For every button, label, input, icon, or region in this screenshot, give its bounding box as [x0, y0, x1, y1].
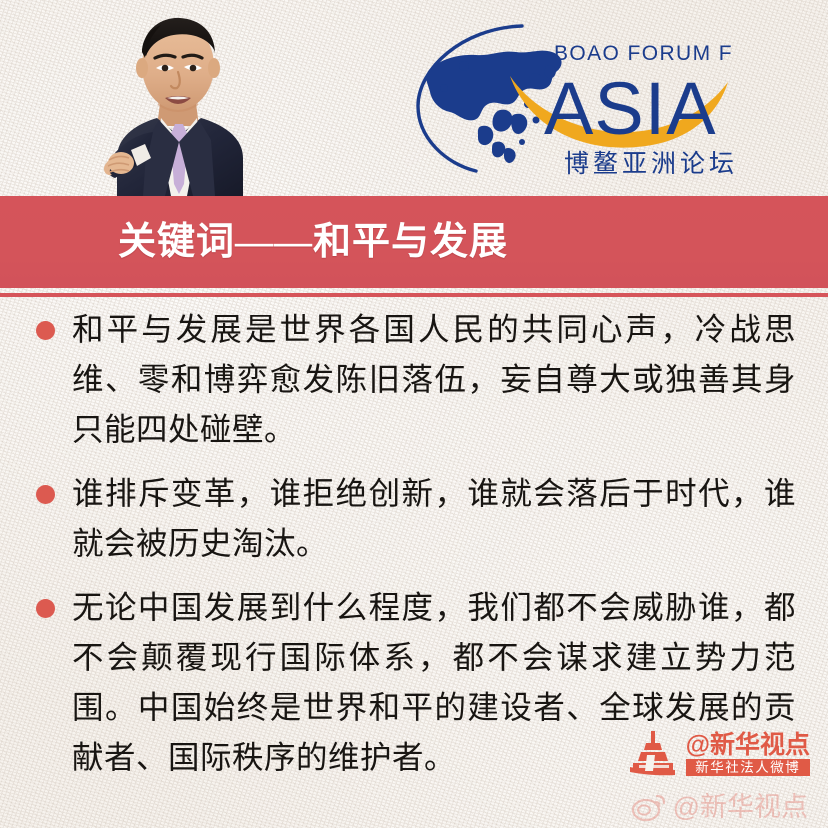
xinhua-words: @新华视点 新华社法人微博: [686, 732, 810, 776]
banner-divider-rule: [0, 293, 828, 297]
bullet-dot-icon: [36, 321, 55, 340]
xinhua-logo-icon: [627, 731, 681, 777]
svg-text:BOAO FORUM FOR: BOAO FORUM FOR: [554, 42, 734, 65]
page-title: 关键词——和平与发展: [118, 223, 508, 261]
xinhua-badge: @新华视点 新华社法人微博: [627, 730, 810, 778]
list-item: 谁排斥变革，谁拒绝创新，谁就会落后于时代，谁就会被历史淘汰。: [0, 469, 828, 569]
bullet-text: 谁排斥变革，谁拒绝创新，谁就会落后于时代，谁就会被历史淘汰。: [72, 469, 796, 569]
section-banner: 关键词——和平与发展: [0, 196, 828, 288]
poster-root: BOAO FORUM FOR ASIA 博鳌亚洲论坛 关键词——和平与发展 和平…: [0, 0, 828, 828]
weibo-eye-icon: [631, 792, 667, 822]
svg-text:ASIA: ASIA: [544, 67, 717, 150]
svg-text:博鳌亚洲论坛: 博鳌亚洲论坛: [564, 150, 734, 178]
portrait-photo: [95, 8, 260, 196]
bullet-list: 和平与发展是世界各国人民的共同心声，冷战思维、零和博弈愈发陈旧落伍，妄自尊大或独…: [0, 305, 828, 797]
boao-forum-for-asia-logo: BOAO FORUM FOR ASIA 博鳌亚洲论坛: [404, 14, 734, 179]
xinhua-handle: @新华视点: [686, 732, 810, 758]
bullet-text: 和平与发展是世界各国人民的共同心声，冷战思维、零和博弈愈发陈旧落伍，妄自尊大或独…: [72, 305, 796, 455]
bullet-dot-icon: [36, 599, 55, 618]
weibo-handle: @新华视点: [673, 792, 808, 822]
weibo-watermark: @新华视点: [631, 792, 808, 822]
list-item: 和平与发展是世界各国人民的共同心声，冷战思维、零和博弈愈发陈旧落伍，妄自尊大或独…: [0, 305, 828, 455]
bullet-dot-icon: [36, 485, 55, 504]
header: BOAO FORUM FOR ASIA 博鳌亚洲论坛: [0, 0, 828, 196]
xinhua-subtitle: 新华社法人微博: [686, 759, 810, 776]
